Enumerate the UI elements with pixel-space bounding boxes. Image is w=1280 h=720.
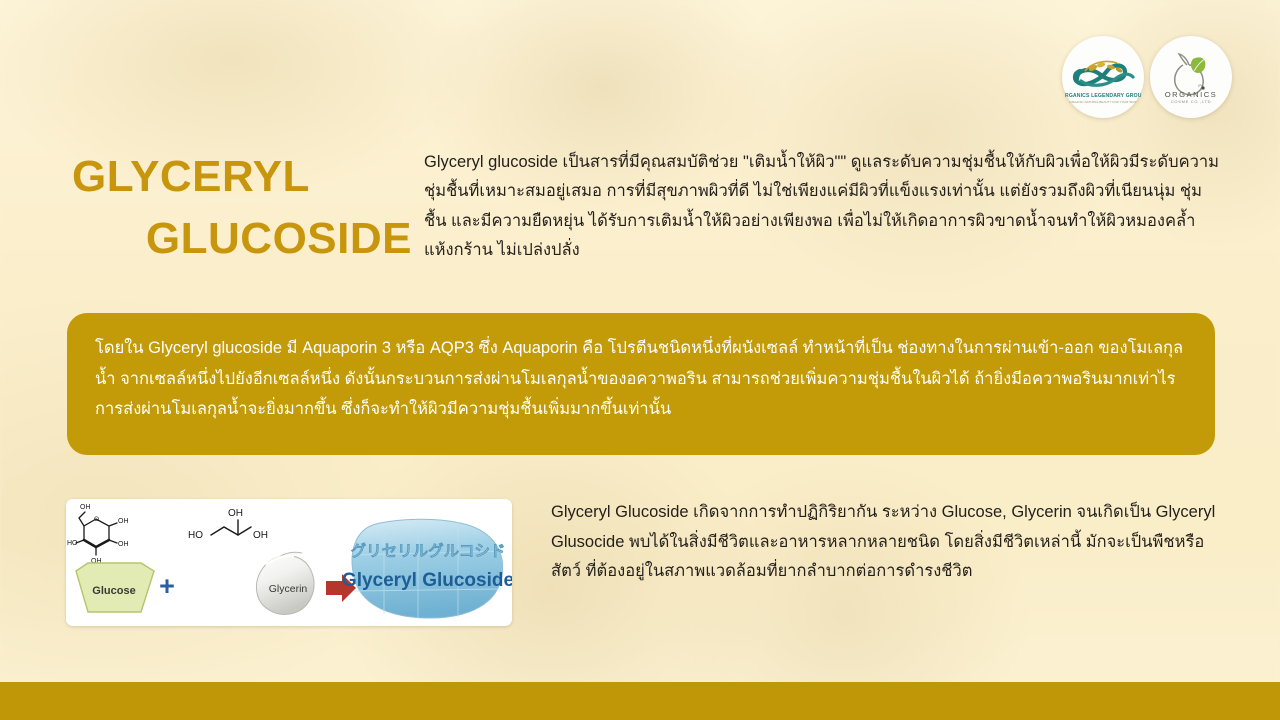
product-label-english: Glyceryl Glucoside [342, 570, 512, 591]
legendary-logo-subtitle: ORGANIC NATURAL BEAUTY FOR YOUR SKIN [1070, 100, 1137, 104]
glucose-label-o-ring: O [94, 516, 99, 523]
bottom-paragraph: Glyceryl Glucoside เกิดจากการทำปฏิกิริยา… [551, 498, 1225, 587]
legendary-logo-title: ORGANICS LEGENDARY GROUP [1065, 93, 1141, 99]
slide-canvas: ORGANICS LEGENDARY GROUP ORGANIC NATURAL… [0, 0, 1280, 720]
logo-row: ORGANICS LEGENDARY GROUP ORGANIC NATURAL… [1062, 36, 1232, 118]
product-blob [352, 519, 503, 618]
cosme-logo-title: ORGANICS [1165, 90, 1218, 99]
glycerin-chip-label: Glycerin [269, 583, 308, 595]
glucose-label-oh-top: OH [80, 504, 91, 511]
aquaporin-callout-box: โดยใน Glyceryl glucoside มี Aquaporin 3 … [67, 313, 1215, 455]
glycerin-label-oh-right: OH [253, 530, 268, 541]
glucose-chip-label: Glucose [92, 585, 135, 597]
glucose-label-oh-right-top: OH [118, 518, 129, 525]
plus-icon: + [159, 571, 175, 601]
organics-legendary-group-logo: ORGANICS LEGENDARY GROUP ORGANIC NATURAL… [1062, 36, 1144, 118]
title-line-2: GLUCOSIDE [72, 208, 412, 270]
glucose-label-oh-right-bottom: OH [118, 541, 129, 548]
aquaporin-callout-text: โดยใน Glyceryl glucoside มี Aquaporin 3 … [95, 333, 1187, 425]
glucose-label-ho-left: HO [67, 540, 78, 547]
glycerin-label-oh-top: OH [228, 508, 243, 519]
title-line-1: GLYCERYL [72, 146, 412, 208]
footer-bar [0, 682, 1280, 720]
glycerin-label-ho-left: HO [188, 530, 203, 541]
intro-paragraph: Glyceryl glucoside เป็นสารที่มีคุณสมบัติ… [424, 148, 1224, 265]
product-label-japanese: グリセリルグルコシド [351, 541, 506, 560]
reaction-diagram: OH O OH HO OH OH Glucose + OH HO OH [66, 499, 512, 626]
cosme-logo-subtitle: COSME CO.,LTD [1171, 99, 1211, 104]
organics-cosme-logo: ORGANICS COSME CO.,LTD [1150, 36, 1232, 118]
page-title: GLYCERYL GLUCOSIDE [72, 146, 412, 271]
